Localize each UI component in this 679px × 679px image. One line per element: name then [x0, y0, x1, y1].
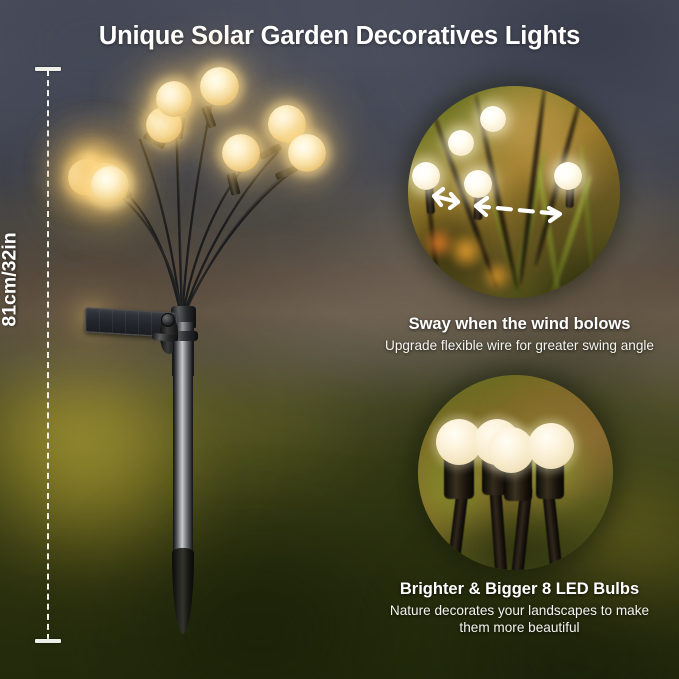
- feature-subtext-line2: them more beautiful: [360, 619, 679, 636]
- led-bulb: [288, 134, 326, 172]
- panel-angle-knob[interactable]: [161, 313, 175, 327]
- feature-heading: Sway when the wind bolows: [360, 315, 679, 334]
- photo-led-bulb: [528, 423, 574, 469]
- feature-subtext: Upgrade flexible wire for greater swing …: [360, 337, 679, 354]
- feature-photo-sway-in-grass: arrow -->: [408, 86, 620, 298]
- feature-photo-led-bulb-closeup: [418, 375, 613, 570]
- led-bulb: [222, 134, 260, 172]
- led-bulb: [200, 67, 239, 106]
- product-infographic: Unique Solar Garden Decoratives Lights 8…: [0, 0, 679, 679]
- solar-garden-stake-light: [0, 0, 400, 679]
- led-bulb: [91, 166, 129, 204]
- product-wire-stems: [0, 0, 400, 679]
- feature-subtext-line1: Nature decorates your landscapes to make: [360, 602, 679, 619]
- metal-stake-pole-lower: [173, 341, 193, 555]
- feature-caption-sway: Sway when the wind bolows Upgrade flexib…: [360, 315, 679, 354]
- led-bulb: [156, 81, 192, 117]
- feature-caption-bulbs: Brighter & Bigger 8 LED Bulbs Nature dec…: [360, 580, 679, 636]
- photo-led-bulb: [488, 427, 534, 473]
- double-headed-swing-arrows: arrow -->: [408, 86, 620, 298]
- feature-heading: Brighter & Bigger 8 LED Bulbs: [360, 580, 679, 599]
